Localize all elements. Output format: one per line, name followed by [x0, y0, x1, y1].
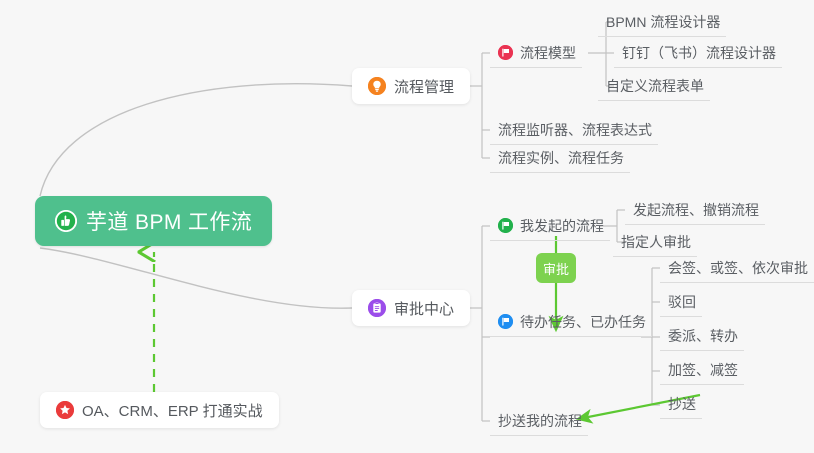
- annotation-approval-pill: 审批: [536, 253, 576, 283]
- node-label: 发起流程、撤销流程: [633, 200, 759, 220]
- node-label: 钉钉（飞书）流程设计器: [622, 43, 776, 63]
- node-label: 我发起的流程: [520, 216, 604, 236]
- node-process-model[interactable]: 流程模型: [490, 38, 582, 68]
- node-label: 待办任务、已办任务: [520, 312, 646, 332]
- node-label: 流程监听器、流程表达式: [498, 120, 652, 140]
- node-label: 抄送: [668, 394, 696, 414]
- node-label: 抄送我的流程: [498, 411, 582, 431]
- node-label: 自定义流程表单: [606, 76, 704, 96]
- branch-node-approval-center[interactable]: 审批中心: [352, 290, 470, 326]
- flag-red-icon: [498, 45, 513, 60]
- branch-node-label: 审批中心: [394, 298, 454, 319]
- star-icon: [56, 401, 74, 419]
- node-label: 流程模型: [520, 43, 576, 63]
- node-label: 会签、或签、依次审批: [668, 258, 808, 278]
- wire-root-to-process-management: [40, 84, 352, 196]
- root-node[interactable]: 芋道 BPM 工作流: [35, 196, 272, 246]
- node-label: 流程实例、流程任务: [498, 148, 624, 168]
- node-label: 指定人审批: [621, 232, 691, 252]
- node-start-cancel-process[interactable]: 发起流程、撤销流程: [625, 195, 765, 225]
- node-bpmn-designer[interactable]: BPMN 流程设计器: [598, 7, 726, 37]
- note-node-label: OA、CRM、ERP 打通实战: [82, 400, 263, 421]
- node-add-remove-sign[interactable]: 加签、减签: [660, 355, 744, 385]
- branch-node-label: 流程管理: [394, 76, 454, 97]
- node-process-instance[interactable]: 流程实例、流程任务: [490, 143, 630, 173]
- node-label: 驳回: [668, 292, 696, 312]
- node-label: 委派、转办: [668, 326, 738, 346]
- clipboard-icon: [368, 299, 386, 317]
- node-label: 加签、减签: [668, 360, 738, 380]
- note-node-oa-crm-erp[interactable]: OA、CRM、ERP 打通实战: [40, 392, 279, 428]
- node-todo-done-tasks[interactable]: 待办任务、已办任务: [490, 307, 652, 337]
- node-cc-to-me[interactable]: 抄送我的流程: [490, 406, 588, 436]
- mindmap-canvas: 芋道 BPM 工作流 OA、CRM、ERP 打通实战 流程管理: [0, 0, 814, 453]
- node-delegate-transfer[interactable]: 委派、转办: [660, 321, 744, 351]
- node-process-listener[interactable]: 流程监听器、流程表达式: [490, 115, 658, 145]
- root-node-label: 芋道 BPM 工作流: [86, 206, 252, 236]
- node-countersign-modes[interactable]: 会签、或签、依次审批: [660, 253, 814, 283]
- node-custom-process-form[interactable]: 自定义流程表单: [598, 71, 710, 101]
- thumbs-up-icon: [55, 210, 77, 232]
- annotation-label: 审批: [543, 259, 569, 278]
- lightbulb-icon: [368, 77, 386, 95]
- branch-node-process-management[interactable]: 流程管理: [352, 68, 470, 104]
- wire-root-to-approval-center: [40, 248, 352, 308]
- node-dingtalk-feishu-designer[interactable]: 钉钉（飞书）流程设计器: [614, 38, 782, 68]
- node-reject[interactable]: 驳回: [660, 287, 702, 317]
- flag-blue-icon: [498, 314, 513, 329]
- flag-green-icon: [498, 218, 513, 233]
- node-my-initiated-processes[interactable]: 我发起的流程: [490, 211, 610, 241]
- node-cc[interactable]: 抄送: [660, 389, 702, 419]
- node-label: BPMN 流程设计器: [606, 12, 720, 32]
